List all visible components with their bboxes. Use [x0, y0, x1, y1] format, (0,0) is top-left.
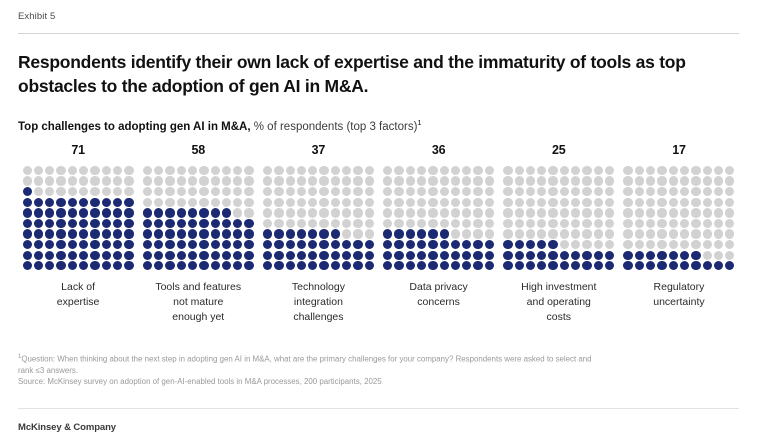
waffle-dot-filled [669, 251, 678, 260]
waffle-dot-empty [297, 176, 306, 185]
waffle-dot-empty [383, 187, 392, 196]
waffle-dot-filled [124, 251, 133, 260]
waffle-dot-empty [725, 251, 734, 260]
waffle-dot-filled [594, 251, 603, 260]
waffle-dot-filled [222, 229, 231, 238]
waffle-dot-empty [623, 229, 632, 238]
waffle-dot-empty [594, 176, 603, 185]
waffle-dot-empty [113, 166, 122, 175]
waffle-dot-empty [440, 208, 449, 217]
waffle-dot-empty [560, 166, 569, 175]
waffle-dot-empty [233, 166, 242, 175]
waffle-dot-filled [23, 261, 32, 270]
waffle-dot-empty [263, 187, 272, 196]
waffle-dot-filled [188, 229, 197, 238]
waffle-dot-empty [473, 229, 482, 238]
waffle-dot-empty [657, 229, 666, 238]
waffle-dot-empty [331, 166, 340, 175]
waffle-dot-empty [34, 187, 43, 196]
waffle-dot-filled [102, 219, 111, 228]
waffle-dot-empty [353, 166, 362, 175]
waffle-dot-filled [691, 261, 700, 270]
waffle-dot-filled [428, 240, 437, 249]
waffle-dot-empty [503, 208, 512, 217]
waffle-dot-empty [582, 219, 591, 228]
waffle-dot-empty [548, 166, 557, 175]
waffle-dot-filled [90, 240, 99, 249]
waffle-dot-empty [406, 166, 415, 175]
waffle-dot-empty [165, 176, 174, 185]
waffle-dot-empty [233, 176, 242, 185]
waffle-dot-empty [394, 187, 403, 196]
waffle-dot-filled [45, 229, 54, 238]
waffle-dot-empty [263, 208, 272, 217]
waffle-dot-empty [274, 176, 283, 185]
waffle-dot-filled [263, 240, 272, 249]
waffle-dot-empty [635, 166, 644, 175]
waffle-dot-empty [669, 166, 678, 175]
waffle-dot-empty [428, 176, 437, 185]
waffle-dot-empty [725, 166, 734, 175]
waffle-dot-empty [548, 229, 557, 238]
waffle-dot-empty [571, 229, 580, 238]
waffle-dot-empty [102, 166, 111, 175]
waffle-dot-empty [23, 176, 32, 185]
waffle-dot-filled [417, 240, 426, 249]
waffle-dot-filled [646, 251, 655, 260]
waffle-dot-empty [537, 229, 546, 238]
waffle-dot-filled [462, 251, 471, 260]
waffle-dot-empty [725, 208, 734, 217]
waffle-dot-filled [365, 240, 374, 249]
waffle-dot-empty [102, 187, 111, 196]
waffle-dot-empty [635, 240, 644, 249]
waffle-dot-filled [165, 261, 174, 270]
waffle-dot-empty [56, 187, 65, 196]
waffle-dot-filled [440, 240, 449, 249]
waffle-dot-empty [68, 187, 77, 196]
waffle-dot-empty [515, 198, 524, 207]
waffle-dot-empty [605, 176, 614, 185]
waffle-chart-1: 71Lack of expertise [18, 144, 138, 325]
waffle-dot-filled [233, 240, 242, 249]
chart-value-label: 17 [672, 144, 686, 157]
waffle-dot-filled [594, 261, 603, 270]
waffle-dot-empty [79, 176, 88, 185]
waffle-dot-filled [394, 251, 403, 260]
waffle-dot-filled [473, 251, 482, 260]
waffle-dot-filled [113, 198, 122, 207]
waffle-dot-filled [79, 240, 88, 249]
waffle-dot-filled [274, 240, 283, 249]
waffle-dot-filled [297, 261, 306, 270]
waffle-dot-filled [353, 240, 362, 249]
waffle-dot-empty [143, 198, 152, 207]
waffle-dot-empty [714, 229, 723, 238]
waffle-dot-empty [680, 219, 689, 228]
chart-subtitle: Top challenges to adopting gen AI in M&A… [18, 118, 739, 135]
waffle-dot-empty [365, 208, 374, 217]
waffle-dot-empty [451, 176, 460, 185]
waffle-dot-empty [657, 176, 666, 185]
waffle-dot-filled [90, 261, 99, 270]
waffle-dot-empty [515, 229, 524, 238]
waffle-dot-filled [274, 251, 283, 260]
waffle-dot-empty [297, 219, 306, 228]
footnotes: 1Question: When thinking about the next … [18, 353, 746, 387]
chart-value-label: 71 [71, 144, 85, 157]
waffle-dot-empty [417, 219, 426, 228]
waffle-dot-empty [571, 166, 580, 175]
waffle-dot-empty [417, 208, 426, 217]
waffle-dot-filled [680, 261, 689, 270]
waffle-dot-filled [165, 240, 174, 249]
waffle-dot-empty [680, 208, 689, 217]
waffle-dot-empty [691, 198, 700, 207]
waffle-dot-filled [143, 240, 152, 249]
waffle-dot-filled [23, 240, 32, 249]
waffle-dot-empty [124, 176, 133, 185]
waffle-dot-empty [623, 219, 632, 228]
waffle-dot-empty [165, 187, 174, 196]
waffle-dot-empty [113, 176, 122, 185]
waffle-dot-filled [571, 251, 580, 260]
waffle-dot-filled [177, 208, 186, 217]
waffle-dot-empty [537, 176, 546, 185]
waffle-dot-filled [154, 261, 163, 270]
waffle-dot-empty [177, 176, 186, 185]
waffle-dot-empty [560, 240, 569, 249]
waffle-dot-filled [165, 251, 174, 260]
waffle-dot-filled [515, 240, 524, 249]
waffle-dot-empty [635, 198, 644, 207]
waffle-dot-empty [383, 176, 392, 185]
waffle-dot-empty [45, 187, 54, 196]
waffle-dot-empty [691, 240, 700, 249]
waffle-dot-empty [646, 219, 655, 228]
waffle-dot-filled [274, 261, 283, 270]
waffle-dot-empty [440, 198, 449, 207]
waffle-dot-filled [582, 251, 591, 260]
waffle-dot-empty [342, 219, 351, 228]
waffle-dot-empty [680, 240, 689, 249]
waffle-dot-empty [526, 166, 535, 175]
waffle-dot-empty [560, 219, 569, 228]
waffle-dot-filled [582, 261, 591, 270]
waffle-dot-filled [560, 251, 569, 260]
chart-category-label: Regulatory uncertainty [653, 280, 704, 310]
waffle-dot-filled [383, 261, 392, 270]
waffle-dot-empty [90, 166, 99, 175]
waffle-dot-empty [473, 219, 482, 228]
waffle-dot-empty [473, 166, 482, 175]
waffle-dot-empty [635, 176, 644, 185]
waffle-dot-filled [23, 198, 32, 207]
brand-logo: McKinsey & Company [18, 422, 116, 433]
waffle-dot-empty [594, 198, 603, 207]
waffle-dot-empty [342, 229, 351, 238]
waffle-dot-empty [462, 198, 471, 207]
waffle-dot-empty [680, 198, 689, 207]
waffle-dot-empty [244, 176, 253, 185]
chart-value-label: 37 [312, 144, 326, 157]
waffle-dot-empty [691, 176, 700, 185]
waffle-dot-empty [274, 219, 283, 228]
waffle-dot-empty [102, 176, 111, 185]
waffle-dot-filled [537, 251, 546, 260]
waffle-dot-empty [319, 198, 328, 207]
waffle-dot-filled [222, 208, 231, 217]
waffle-dot-empty [669, 229, 678, 238]
waffle-dot-empty [383, 166, 392, 175]
waffle-dot-filled [56, 208, 65, 217]
waffle-dot-empty [428, 187, 437, 196]
waffle-dot-filled [244, 251, 253, 260]
waffle-dot-empty [406, 208, 415, 217]
waffle-dot-empty [263, 219, 272, 228]
waffle-dot-empty [45, 176, 54, 185]
waffle-dot-empty [417, 176, 426, 185]
waffle-dot-empty [188, 176, 197, 185]
waffle-dot-empty [440, 187, 449, 196]
waffle-dot-empty [703, 229, 712, 238]
waffle-dot-filled [23, 208, 32, 217]
waffle-dot-filled [657, 251, 666, 260]
waffle-dot-filled [199, 251, 208, 260]
waffle-dot-empty [537, 187, 546, 196]
waffle-dot-empty [383, 198, 392, 207]
waffle-dot-filled [154, 251, 163, 260]
waffle-dot-filled [45, 198, 54, 207]
waffle-dot-empty [154, 198, 163, 207]
waffle-dot-filled [79, 208, 88, 217]
waffle-dot-empty [714, 166, 723, 175]
waffle-dot-empty [308, 187, 317, 196]
waffle-dot-empty [605, 240, 614, 249]
waffle-dot-filled [244, 229, 253, 238]
waffle-dot-filled [286, 229, 295, 238]
waffle-dot-empty [365, 187, 374, 196]
waffle-dot-filled [462, 240, 471, 249]
waffle-dot-filled [124, 261, 133, 270]
waffle-dot-filled [623, 251, 632, 260]
waffle-dot-filled [45, 219, 54, 228]
waffle-dot-empty [177, 198, 186, 207]
waffle-dot-filled [102, 198, 111, 207]
waffle-dot-empty [211, 176, 220, 185]
waffle-dot-filled [560, 261, 569, 270]
waffle-dot-empty [342, 166, 351, 175]
waffle-dot-empty [23, 166, 32, 175]
waffle-dot-empty [428, 208, 437, 217]
waffle-dot-empty [462, 219, 471, 228]
waffle-dot-empty [526, 176, 535, 185]
waffle-dot-filled [188, 240, 197, 249]
waffle-dot-filled [635, 261, 644, 270]
footer-divider [18, 408, 739, 409]
waffle-dot-filled [34, 229, 43, 238]
waffle-dot-empty [485, 229, 494, 238]
waffle-dot-filled [211, 240, 220, 249]
waffle-dot-empty [605, 208, 614, 217]
waffle-dot-empty [319, 187, 328, 196]
waffle-dot-empty [725, 229, 734, 238]
waffle-dot-filled [102, 261, 111, 270]
waffle-dot-empty [331, 198, 340, 207]
waffle-dot-filled [342, 261, 351, 270]
waffle-dot-filled [406, 251, 415, 260]
waffle-dot-filled [165, 219, 174, 228]
waffle-dot-filled [68, 251, 77, 260]
waffle-dot-filled [56, 219, 65, 228]
waffle-dot-empty [451, 187, 460, 196]
waffle-dot-empty [582, 198, 591, 207]
waffle-dot-empty [113, 187, 122, 196]
waffle-dot-empty [440, 219, 449, 228]
waffle-dot-filled [526, 261, 535, 270]
waffle-dot-filled [428, 229, 437, 238]
waffle-dot-empty [297, 187, 306, 196]
waffle-dot-filled [102, 240, 111, 249]
waffle-grid [22, 165, 135, 271]
waffle-dot-empty [485, 187, 494, 196]
waffle-dot-empty [582, 187, 591, 196]
chart-subtitle-bold: Top challenges to adopting gen AI in M&A… [18, 121, 251, 133]
footnote-question-line1: Question: When thinking about the next s… [21, 355, 591, 364]
waffle-dot-filled [113, 251, 122, 260]
waffle-dot-filled [188, 219, 197, 228]
waffle-dot-empty [286, 208, 295, 217]
waffle-dot-empty [342, 198, 351, 207]
waffle-dot-filled [440, 229, 449, 238]
waffle-dot-empty [669, 187, 678, 196]
waffle-dot-empty [594, 187, 603, 196]
waffle-dot-filled [45, 261, 54, 270]
waffle-dot-empty [274, 198, 283, 207]
waffle-dot-empty [526, 187, 535, 196]
waffle-dot-filled [406, 240, 415, 249]
waffle-dot-empty [703, 198, 712, 207]
waffle-dot-filled [714, 261, 723, 270]
waffle-dot-filled [703, 261, 712, 270]
waffle-dot-empty [503, 176, 512, 185]
waffle-dot-empty [394, 198, 403, 207]
waffle-dot-empty [79, 187, 88, 196]
waffle-dot-filled [90, 198, 99, 207]
waffle-dot-filled [515, 251, 524, 260]
waffle-dot-empty [406, 176, 415, 185]
waffle-dot-empty [417, 166, 426, 175]
waffle-dot-empty [308, 198, 317, 207]
waffle-dot-empty [669, 219, 678, 228]
waffle-dot-empty [657, 219, 666, 228]
waffle-dot-empty [286, 198, 295, 207]
waffle-dot-empty [623, 240, 632, 249]
waffle-dot-empty [646, 198, 655, 207]
waffle-dot-empty [56, 176, 65, 185]
waffle-dot-empty [473, 208, 482, 217]
waffle-dot-filled [233, 251, 242, 260]
waffle-dot-empty [571, 198, 580, 207]
waffle-dot-filled [23, 251, 32, 260]
waffle-dot-empty [188, 187, 197, 196]
waffle-dot-empty [440, 176, 449, 185]
waffle-dot-empty [623, 176, 632, 185]
waffle-dot-empty [623, 166, 632, 175]
waffle-dot-filled [571, 261, 580, 270]
waffle-dot-empty [703, 176, 712, 185]
waffle-dot-empty [297, 198, 306, 207]
waffle-dot-empty [222, 176, 231, 185]
waffle-dot-empty [263, 166, 272, 175]
waffle-dot-empty [560, 208, 569, 217]
waffle-dot-empty [188, 198, 197, 207]
waffle-dot-empty [406, 187, 415, 196]
waffle-dot-empty [462, 176, 471, 185]
waffle-dot-empty [451, 208, 460, 217]
waffle-dot-filled [394, 261, 403, 270]
waffle-dot-filled [319, 261, 328, 270]
waffle-dot-empty [714, 251, 723, 260]
waffle-chart-2: 58Tools and features not mature enough y… [138, 144, 258, 325]
waffle-dot-empty [165, 198, 174, 207]
waffle-dot-empty [473, 187, 482, 196]
waffle-dot-filled [79, 219, 88, 228]
waffle-dot-empty [274, 187, 283, 196]
waffle-dot-empty [353, 208, 362, 217]
waffle-dot-filled [244, 240, 253, 249]
waffle-dot-empty [462, 208, 471, 217]
waffle-dot-empty [526, 208, 535, 217]
waffle-dot-filled [165, 208, 174, 217]
waffle-dot-filled [56, 229, 65, 238]
waffle-dot-empty [319, 208, 328, 217]
waffle-dot-empty [353, 198, 362, 207]
waffle-dot-filled [394, 229, 403, 238]
waffle-dot-empty [485, 176, 494, 185]
waffle-dot-filled [263, 229, 272, 238]
waffle-dot-empty [353, 176, 362, 185]
waffle-dot-filled [23, 229, 32, 238]
waffle-dot-empty [503, 198, 512, 207]
waffle-grid [382, 165, 495, 271]
waffle-dot-filled [222, 261, 231, 270]
waffle-dot-empty [485, 166, 494, 175]
waffle-dot-filled [113, 261, 122, 270]
chart-value-label: 25 [552, 144, 566, 157]
waffle-dot-empty [68, 176, 77, 185]
chart-category-label: High investment and operating costs [521, 280, 596, 325]
waffle-dot-empty [143, 187, 152, 196]
waffle-dot-filled [79, 198, 88, 207]
waffle-dot-empty [485, 198, 494, 207]
waffle-dot-empty [526, 198, 535, 207]
waffle-dot-filled [154, 219, 163, 228]
waffle-dot-empty [594, 219, 603, 228]
waffle-dot-filled [34, 219, 43, 228]
waffle-dot-empty [90, 176, 99, 185]
waffle-dot-filled [211, 261, 220, 270]
waffle-dot-empty [623, 187, 632, 196]
footnote-source: Source: McKinsey survey on adoption of g… [18, 376, 746, 387]
waffle-dot-empty [582, 240, 591, 249]
waffle-dot-empty [154, 187, 163, 196]
waffle-dot-empty [605, 198, 614, 207]
waffle-dot-empty [244, 198, 253, 207]
waffle-dot-empty [635, 219, 644, 228]
waffle-dot-empty [342, 176, 351, 185]
waffle-dot-empty [526, 219, 535, 228]
